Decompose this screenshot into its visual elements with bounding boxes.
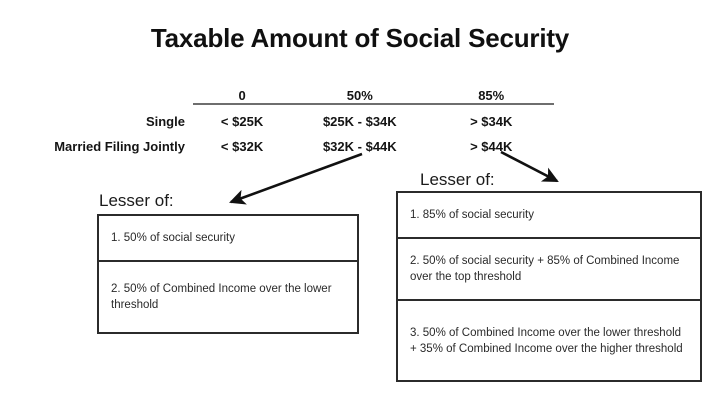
table-corner-label: [14, 84, 193, 104]
left-box-item-2: 2. 50% of Combined Income over the lower…: [99, 260, 357, 332]
cell-single-85: > $34K: [428, 109, 554, 134]
right-box-heading: Lesser of:: [420, 170, 495, 190]
column-header-0: 0: [193, 84, 291, 104]
right-box-item-1: 1. 85% of social security: [398, 193, 700, 237]
row-label-single: Single: [14, 109, 193, 134]
left-box-item-1: 1. 50% of social security: [99, 216, 357, 260]
right-box-item-2: 2. 50% of social security + 85% of Combi…: [398, 237, 700, 299]
cell-mfj-85: > $44K: [428, 134, 554, 159]
cell-mfj-50: $32K - $44K: [291, 134, 428, 159]
threshold-table: 0 50% 85% Single < $25K $25K - $34K > $3…: [14, 84, 554, 159]
column-header-50: 50%: [291, 84, 428, 104]
right-box-item-3: 3. 50% of Combined Income over the lower…: [398, 299, 700, 380]
column-header-85: 85%: [428, 84, 554, 104]
cell-single-50: $25K - $34K: [291, 109, 428, 134]
left-outcome-box: 1. 50% of social security 2. 50% of Comb…: [97, 214, 359, 334]
cell-single-0: < $25K: [193, 109, 291, 134]
row-label-married-filing-jointly: Married Filing Jointly: [14, 134, 193, 159]
left-box-heading: Lesser of:: [99, 191, 174, 211]
table-row: Single < $25K $25K - $34K > $34K: [14, 109, 554, 134]
table-row: Married Filing Jointly < $32K $32K - $44…: [14, 134, 554, 159]
page-title: Taxable Amount of Social Security: [0, 23, 720, 54]
arrow-50pct-to-left-box-icon: [231, 154, 362, 202]
cell-mfj-0: < $32K: [193, 134, 291, 159]
right-outcome-box: 1. 85% of social security 2. 50% of soci…: [396, 191, 702, 382]
table-header-row: 0 50% 85%: [14, 84, 554, 104]
